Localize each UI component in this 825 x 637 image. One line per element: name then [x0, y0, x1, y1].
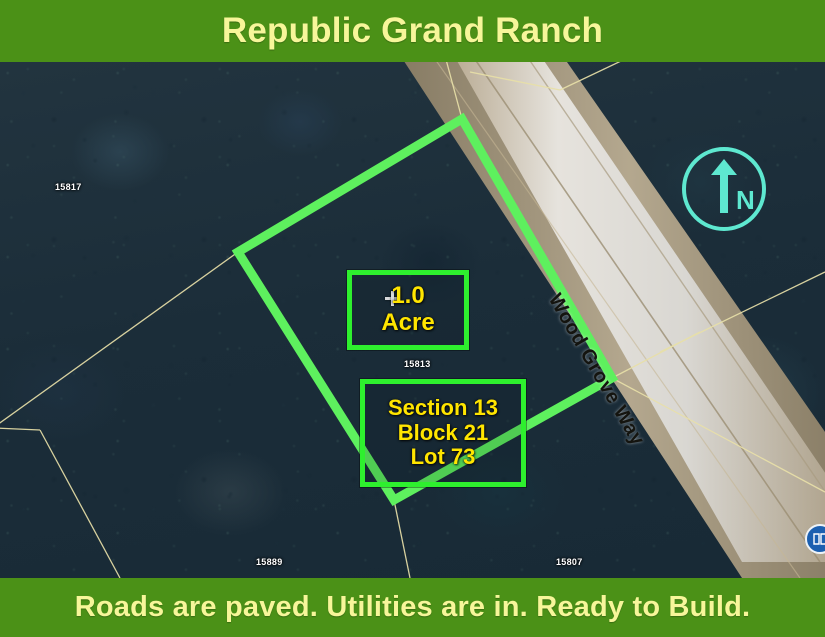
north-arrow-icon: N	[680, 145, 768, 233]
top-banner: Republic Grand Ranch	[0, 0, 825, 62]
acreage-callout-box: 1.0 Acre	[347, 270, 469, 350]
property-title: Republic Grand Ranch	[222, 11, 603, 51]
section-label: Section 13	[388, 396, 498, 421]
block-label: Block 21	[398, 421, 489, 446]
parcel-number-southwest: 15889	[256, 557, 283, 567]
compass-north-letter: N	[736, 185, 755, 215]
acreage-value: 1.0	[391, 283, 424, 310]
parcel-id-callout-box: Section 13 Block 21 Lot 73	[360, 379, 526, 487]
parcel-number-center: 15813	[404, 359, 431, 369]
listing-map-graphic: Republic Grand Ranch	[0, 0, 825, 637]
satellite-map[interactable]: 1.0 Acre Section 13 Block 21 Lot 73 1581…	[0, 62, 825, 578]
lot-label: Lot 73	[411, 445, 476, 470]
parcel-number-southeast: 15807	[556, 557, 583, 567]
features-tagline: Roads are paved. Utilities are in. Ready…	[75, 591, 751, 624]
parcel-number-west: 15817	[55, 182, 82, 192]
bottom-banner: Roads are paved. Utilities are in. Ready…	[0, 578, 825, 637]
acreage-unit: Acre	[381, 310, 434, 337]
